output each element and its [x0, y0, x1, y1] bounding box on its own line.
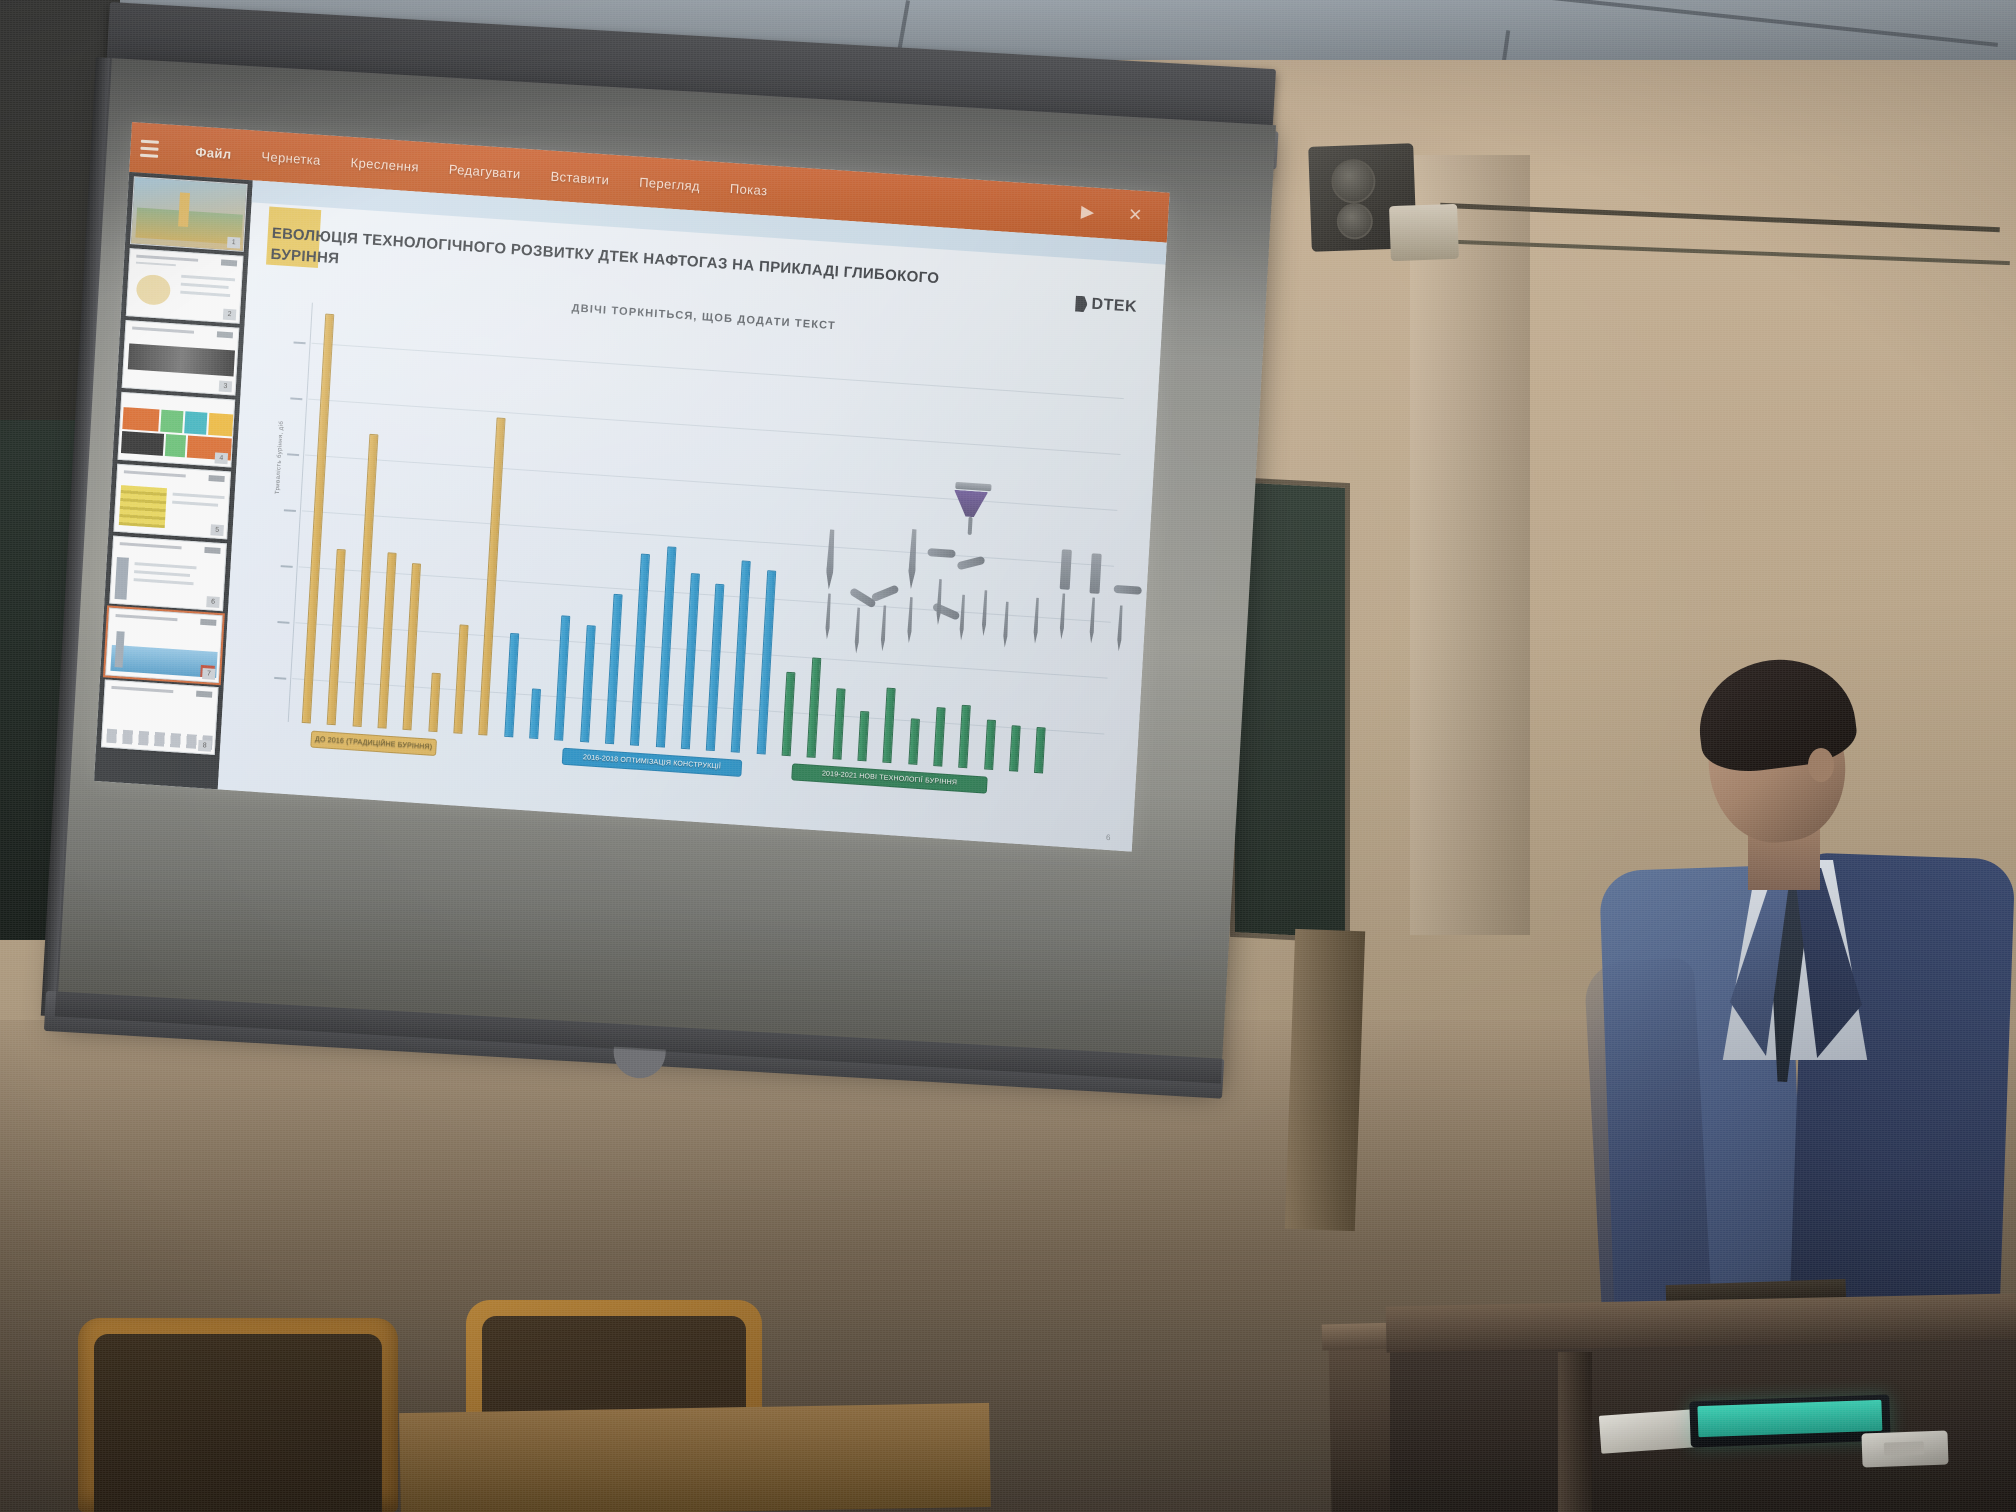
chart-bar: [580, 625, 596, 742]
tab-edit[interactable]: Редагувати: [433, 154, 536, 188]
speaker-cone-icon: [1336, 203, 1373, 240]
chart-bar: [655, 547, 676, 748]
chart-bar: [1009, 725, 1021, 772]
y-tick: [287, 453, 299, 456]
tablet-device[interactable]: [1689, 1395, 1890, 1448]
chart-bar: [782, 672, 796, 756]
drill-bit-icon: [1114, 585, 1142, 595]
drill-bit-icon: [1116, 605, 1124, 651]
y-tick: [281, 565, 293, 568]
thumbnail-number: 7: [202, 668, 216, 680]
legend-item-2[interactable]: 2016-2018 ОПТИМІЗАЦІЯ КОНСТРУКЦІЇ: [562, 748, 743, 777]
chart-bar: [630, 553, 650, 746]
desk-leg: [1558, 1352, 1592, 1512]
dtek-logo: DTEK: [1075, 295, 1137, 317]
y-tick: [294, 341, 306, 344]
powerpoint-window[interactable]: Файл Чернетка Креслення Редагувати Встав…: [94, 122, 1170, 852]
thumbnail-number: 8: [198, 740, 212, 752]
y-tick: [290, 397, 302, 400]
lecture-room: Файл Чернетка Креслення Редагувати Встав…: [0, 0, 2016, 1512]
y-axis-label: Тривалість буріння, діб: [275, 421, 285, 495]
slide-thumbnail-selected[interactable]: 7: [105, 608, 223, 684]
slide-thumbnail[interactable]: 4: [118, 392, 236, 468]
hamburger-icon[interactable]: [140, 133, 168, 165]
board-pointer-stick: [1285, 929, 1365, 1231]
tab-insert[interactable]: Вставити: [535, 161, 625, 194]
chart-bars: [294, 305, 1126, 777]
chart-bar: [1034, 727, 1046, 774]
wall-pillar: [1410, 155, 1530, 935]
thumbnail-number: 2: [223, 309, 237, 321]
chart-bar: [504, 632, 519, 737]
projection-screen-assembly: Файл Чернетка Креслення Редагувати Встав…: [110, 0, 1280, 1090]
tab-view[interactable]: Перегляд: [624, 167, 716, 200]
tab-slideshow[interactable]: Показ: [714, 173, 783, 205]
chart-bar: [857, 711, 869, 762]
screen-bottom-bar: [44, 991, 1224, 1099]
slide-thumbnail[interactable]: 6: [109, 536, 227, 612]
chart-bar: [883, 687, 896, 763]
tab-file[interactable]: Файл: [180, 137, 248, 168]
thumbnail-number: 5: [210, 524, 224, 536]
chart-bar: [378, 553, 397, 729]
chart-bar: [453, 625, 468, 734]
y-tick: [284, 509, 296, 512]
tab-drawing[interactable]: Креслення: [335, 147, 435, 181]
pointer-cursor-icon[interactable]: ▶: [1081, 202, 1095, 223]
bar-chart[interactable]: Тривалість буріння, діб: [264, 301, 1126, 777]
slide-thumbnail[interactable]: 3: [122, 320, 240, 396]
dtek-logo-mark-icon: [1075, 296, 1088, 313]
student-desk: [399, 1403, 991, 1512]
chart-bar: [807, 657, 822, 758]
chart-bar: [908, 718, 920, 765]
chart-bar: [832, 688, 845, 760]
chart-bar: [529, 688, 541, 739]
slide-page-number: 6: [1106, 833, 1111, 842]
slide-thumbnail[interactable]: 2: [126, 248, 244, 324]
chart-bar: [327, 549, 346, 725]
legend-item-3[interactable]: 2019-2021 НОВІ ТЕХНОЛОГІЇ БУРІННЯ: [791, 763, 988, 793]
tablet-screen[interactable]: [1697, 1400, 1882, 1437]
chart-bar: [756, 570, 776, 754]
chart-bar: [933, 708, 945, 767]
tab-draft[interactable]: Чернетка: [246, 141, 337, 174]
chart-bar: [706, 584, 725, 752]
legend-item-1[interactable]: ДО 2016 (ТРАДИЦІЙНЕ БУРІННЯ): [310, 731, 437, 757]
chart-bar: [984, 719, 996, 770]
wall-vent: [1389, 204, 1459, 261]
slide-canvas[interactable]: ЕВОЛЮЦІЯ ТЕХНОЛОГІЧНОГО РОЗВИТКУ ДТЕК НА…: [218, 180, 1167, 851]
ribbon-right-controls: ▶ ✕: [1081, 202, 1169, 228]
chart-bar: [605, 593, 623, 744]
speaker-cone-icon: [1331, 159, 1377, 205]
ear: [1808, 748, 1834, 782]
chart-bar: [428, 673, 440, 732]
slide-thumbnail[interactable]: 1: [130, 176, 248, 252]
dtek-logo-text: DTEK: [1091, 296, 1137, 317]
chart-bar: [554, 615, 570, 741]
chart-bar: [403, 563, 422, 731]
chart-bar: [681, 573, 700, 749]
slide-thumbnail[interactable]: 8: [101, 679, 219, 755]
close-icon[interactable]: ✕: [1127, 205, 1142, 226]
thumbnail-number: 1: [227, 237, 241, 249]
screen-pull-handle[interactable]: [612, 1047, 666, 1080]
chair-left: [78, 1318, 398, 1512]
thumbnail-number: 4: [214, 452, 228, 464]
thumbnail-number: 3: [219, 381, 233, 393]
phone-device[interactable]: [1861, 1431, 1948, 1468]
chart-bar: [731, 560, 751, 753]
y-tick: [274, 677, 286, 680]
slide-thumbnail[interactable]: 5: [113, 464, 231, 540]
chart-bar: [958, 705, 971, 768]
y-tick: [277, 621, 289, 624]
thumbnail-number: 6: [206, 596, 220, 608]
